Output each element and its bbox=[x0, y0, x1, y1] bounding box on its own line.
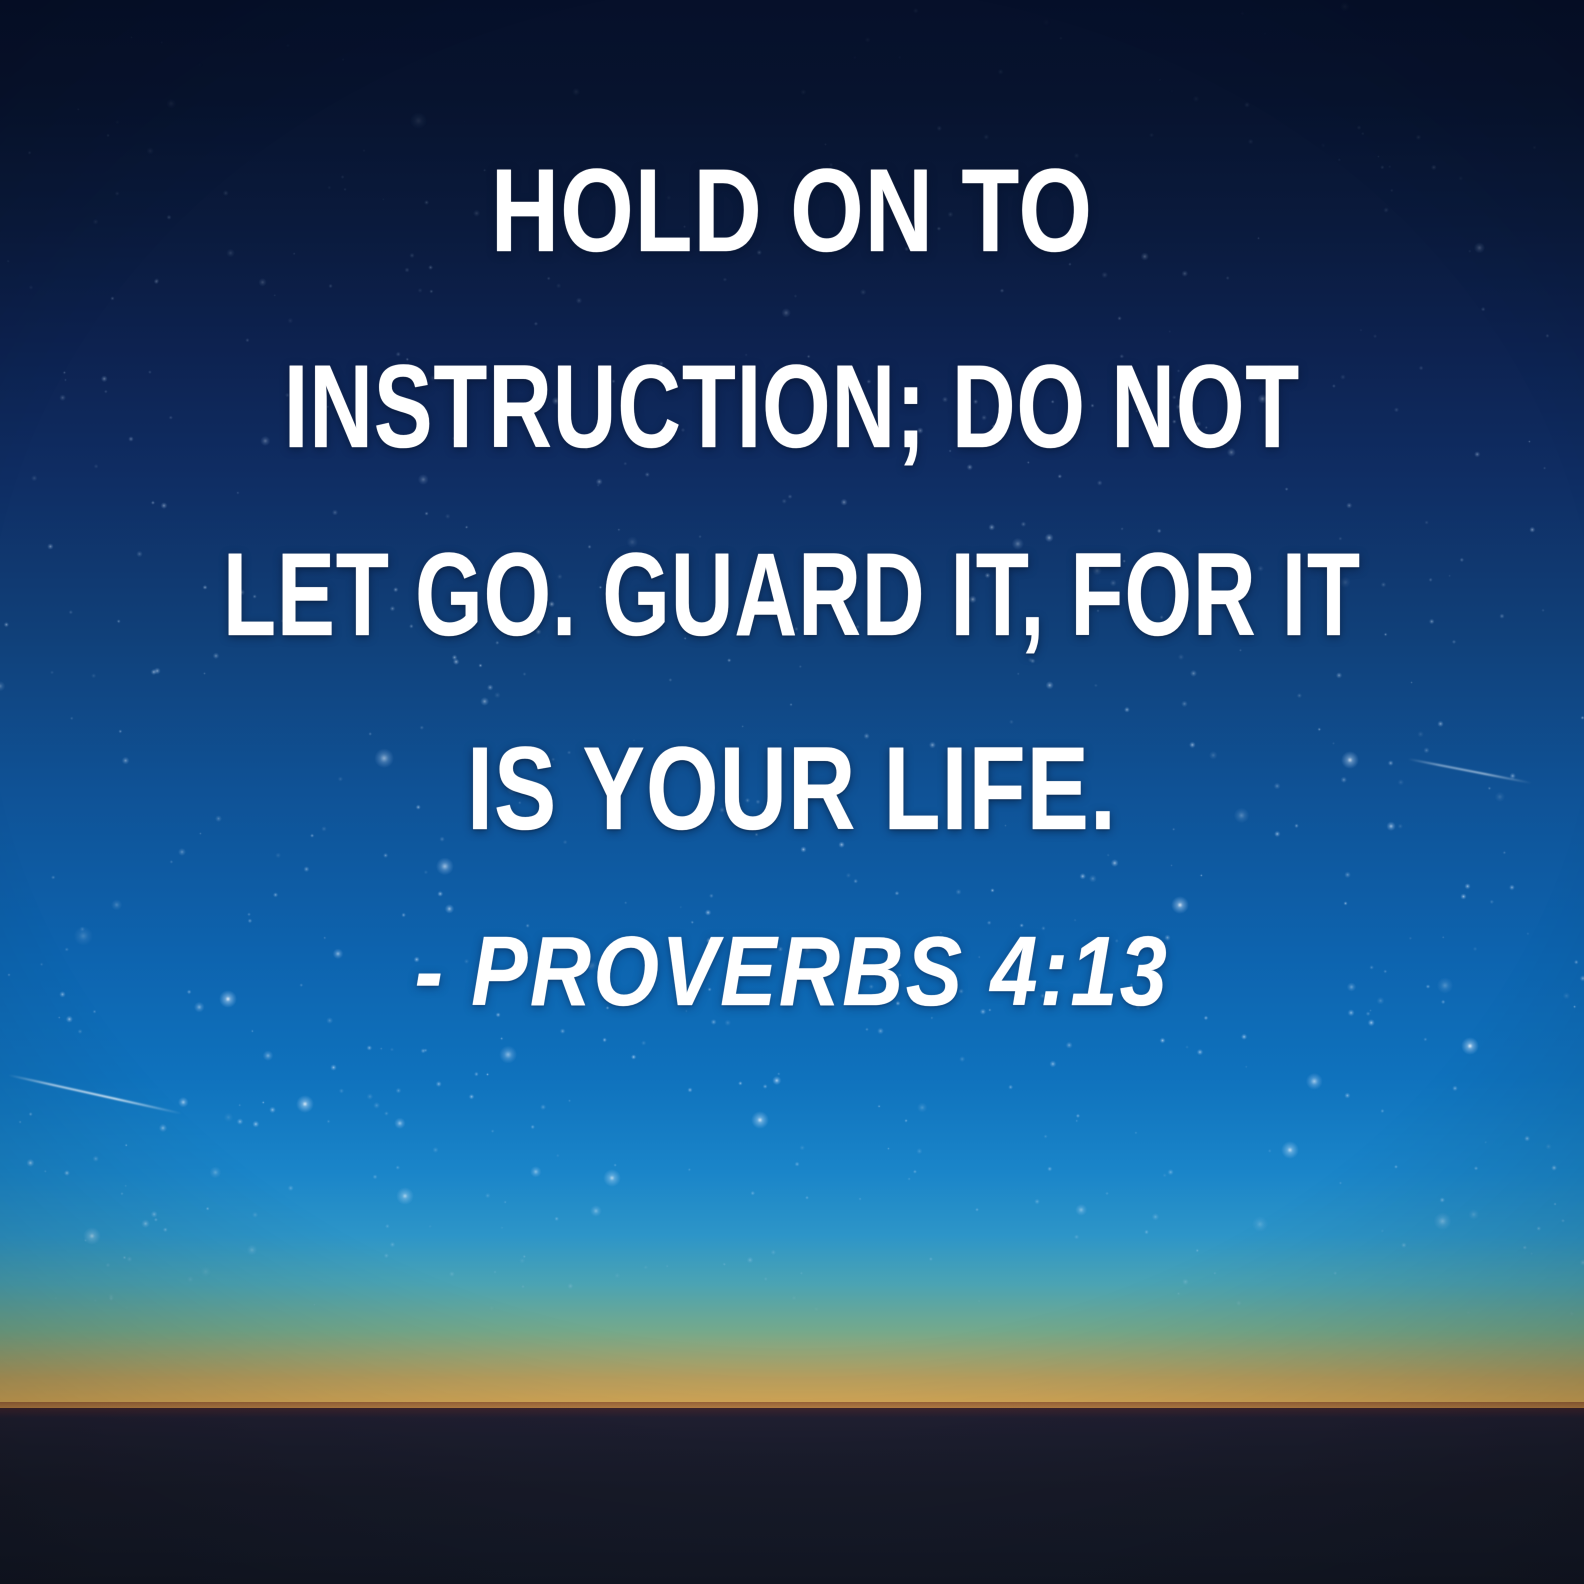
quote-line-2: INSTRUCTION; DO NOT bbox=[202, 348, 1382, 466]
horizon-land-band bbox=[0, 1408, 1584, 1584]
verse-attribution: - PROVERBS 4:13 bbox=[111, 922, 1473, 1020]
quote-line-3: LET GO. GUARD IT, FOR IT bbox=[210, 536, 1374, 654]
quote-line-1: HOLD ON TO bbox=[158, 152, 1425, 270]
quote-line-4: IS YOUR LIFE. bbox=[166, 730, 1417, 848]
verse-poster: HOLD ON TO INSTRUCTION; DO NOT LET GO. G… bbox=[0, 0, 1584, 1584]
